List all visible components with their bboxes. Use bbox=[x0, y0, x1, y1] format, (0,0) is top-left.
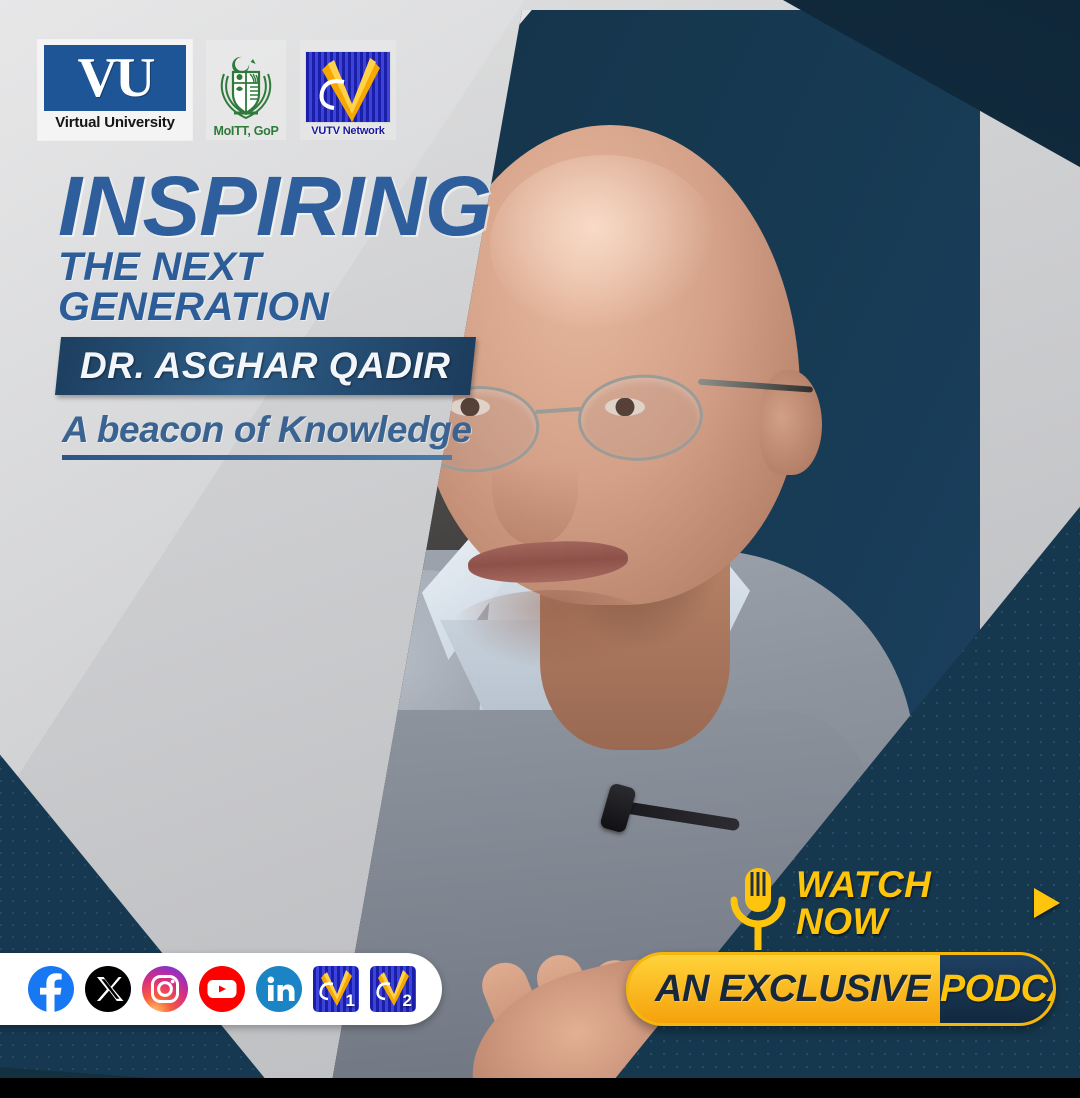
chin-shadow bbox=[450, 590, 660, 670]
vu-letters: VU bbox=[78, 54, 153, 102]
glasses-temple-right bbox=[698, 379, 813, 393]
pill-right-label: PODCAST bbox=[940, 955, 1056, 1023]
linkedin-icon[interactable] bbox=[256, 966, 302, 1012]
headline-block: INSPIRING THE NEXT GENERATION DR. ASGHAR… bbox=[58, 168, 528, 460]
virtual-university-logo[interactable]: VU Virtual University bbox=[38, 40, 192, 140]
headline-secondary: THE NEXT GENERATION bbox=[58, 247, 537, 327]
vutv-channel-number: 1 bbox=[346, 991, 355, 1011]
tagline: A beacon of Knowledge bbox=[58, 409, 528, 451]
lens-right bbox=[575, 370, 706, 465]
play-triangle-icon bbox=[1034, 888, 1060, 918]
guest-name-banner: DR. ASGHAR QADIR bbox=[55, 337, 476, 395]
glasses-bridge bbox=[535, 407, 581, 414]
vu-logo-label: Virtual University bbox=[55, 114, 175, 131]
pill-left-label: AN EXCLUSIVE bbox=[629, 955, 940, 1023]
watch-now-cta[interactable]: WATCH NOW AN EXCLUSIVE PODCAST bbox=[626, 866, 1060, 1026]
logo-row: VU Virtual University bbox=[38, 40, 396, 140]
headline-primary: INSPIRING bbox=[58, 168, 542, 245]
watch-now-label: WATCH NOW bbox=[796, 866, 1026, 940]
youtube-icon[interactable] bbox=[199, 966, 245, 1012]
vutv-channel-1-icon[interactable]: 1 bbox=[313, 966, 359, 1012]
watch-now-text-group: WATCH NOW bbox=[796, 866, 1060, 940]
watch-now-row: WATCH NOW bbox=[626, 866, 1060, 940]
vutv-mark bbox=[305, 51, 391, 123]
vutv-channel-number: 2 bbox=[403, 991, 412, 1011]
facebook-icon[interactable] bbox=[28, 966, 74, 1012]
vutv-network-logo[interactable]: VUTV Network bbox=[300, 40, 396, 140]
moitt-gop-logo[interactable]: MoITT, GoP bbox=[206, 40, 286, 140]
poster-root: W bbox=[0, 0, 1080, 1098]
vutv-channel-2-icon[interactable]: 2 bbox=[370, 966, 416, 1012]
pakistan-state-emblem-icon bbox=[212, 50, 280, 124]
vu-mark: VU bbox=[44, 45, 186, 111]
x-twitter-icon[interactable] bbox=[85, 966, 131, 1012]
exclusive-podcast-pill[interactable]: AN EXCLUSIVE PODCAST bbox=[626, 952, 1056, 1026]
poster-stage: W bbox=[0, 0, 1080, 1078]
tagline-underline bbox=[62, 455, 452, 460]
moitt-gop-label: MoITT, GoP bbox=[213, 124, 278, 138]
bottom-black-bar bbox=[0, 1078, 1080, 1098]
guest-name: DR. ASGHAR QADIR bbox=[58, 345, 450, 387]
vutv-logo-label: VUTV Network bbox=[311, 125, 384, 137]
social-links-bar: 1 2 bbox=[0, 953, 442, 1025]
microphone-icon bbox=[726, 866, 790, 962]
instagram-icon[interactable] bbox=[142, 966, 188, 1012]
